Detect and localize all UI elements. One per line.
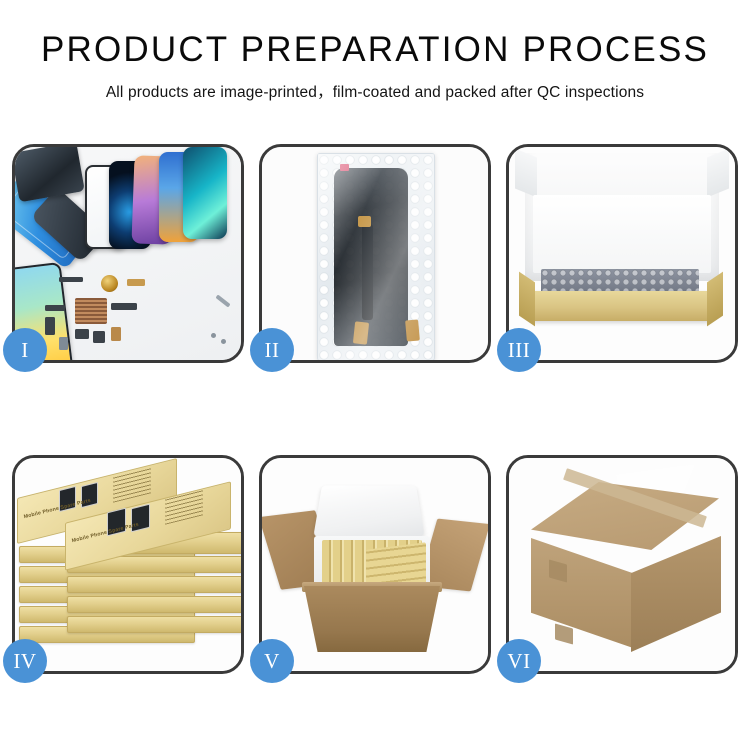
screw-part-1: [211, 333, 216, 338]
stacked-box-r4: [67, 596, 241, 613]
stacked-box-r3: [67, 576, 241, 593]
step-badge-6: VI: [497, 639, 541, 683]
process-steps-grid: I II: [12, 144, 738, 674]
phone-teal-swirl: [183, 147, 227, 239]
box-stack: Mobile Phone Spare Parts Mobile Phone Sp…: [15, 458, 241, 671]
small-part-8: [111, 327, 121, 341]
small-part-3: [45, 305, 65, 311]
step-badge-2: II: [250, 328, 294, 372]
small-part-2: [127, 279, 145, 286]
step-image-4: Mobile Phone Spare Parts Mobile Phone Sp…: [15, 458, 241, 671]
step-image-2: [262, 147, 488, 360]
step-panel-3: III: [506, 144, 738, 363]
small-part-1: [59, 277, 83, 282]
step-image-5: [262, 458, 488, 671]
small-part-9: [59, 337, 68, 350]
bubble-wrap-bag: [317, 153, 435, 360]
screw-part-2: [221, 339, 226, 344]
foam-sheet: [533, 195, 711, 273]
product-preparation-process-page: PRODUCT PREPARATION PROCESS All products…: [0, 0, 750, 750]
yellow-box-tray: [531, 291, 711, 321]
step-image-6: [509, 458, 735, 671]
tape-patch-lower: [555, 623, 573, 644]
sealed-box-side-face: [631, 536, 721, 652]
step-badge-1: I: [3, 328, 47, 372]
gold-connector-left: [353, 321, 369, 344]
step-badge-5: V: [250, 639, 294, 683]
page-header: PRODUCT PREPARATION PROCESS All products…: [0, 0, 750, 102]
small-part-6: [75, 329, 89, 339]
step-image-1: [15, 147, 241, 360]
small-part-7: [93, 331, 105, 343]
step-badge-3: III: [497, 328, 541, 372]
page-title: PRODUCT PREPARATION PROCESS: [0, 32, 750, 69]
step-panel-1: I: [12, 144, 244, 363]
phone-back-housing: [15, 147, 85, 202]
page-subtitle: All products are image-printed，film-coat…: [0, 80, 750, 102]
gold-connector-top: [358, 216, 371, 227]
tweezers-part: [215, 294, 230, 307]
small-part-4: [45, 317, 55, 335]
speaker-coil-part: [101, 275, 118, 292]
step-panel-5: V: [259, 455, 491, 674]
flex-cable: [362, 224, 373, 320]
step-image-3: [509, 147, 735, 360]
step-panel-4: Mobile Phone Spare Parts Mobile Phone Sp…: [12, 455, 244, 674]
sealed-box-front-face: [531, 538, 633, 648]
carton-body: [304, 586, 440, 652]
step-badge-4: IV: [3, 639, 47, 683]
pink-label-tab: [340, 164, 349, 171]
step-panel-2: II: [259, 144, 491, 363]
gold-connector-right: [405, 319, 420, 341]
chip-array-part: [75, 298, 107, 324]
small-part-5: [111, 303, 137, 310]
styrofoam-lid: [313, 485, 424, 537]
step-panel-6: VI: [506, 455, 738, 674]
stacked-box-r5: [67, 616, 241, 633]
